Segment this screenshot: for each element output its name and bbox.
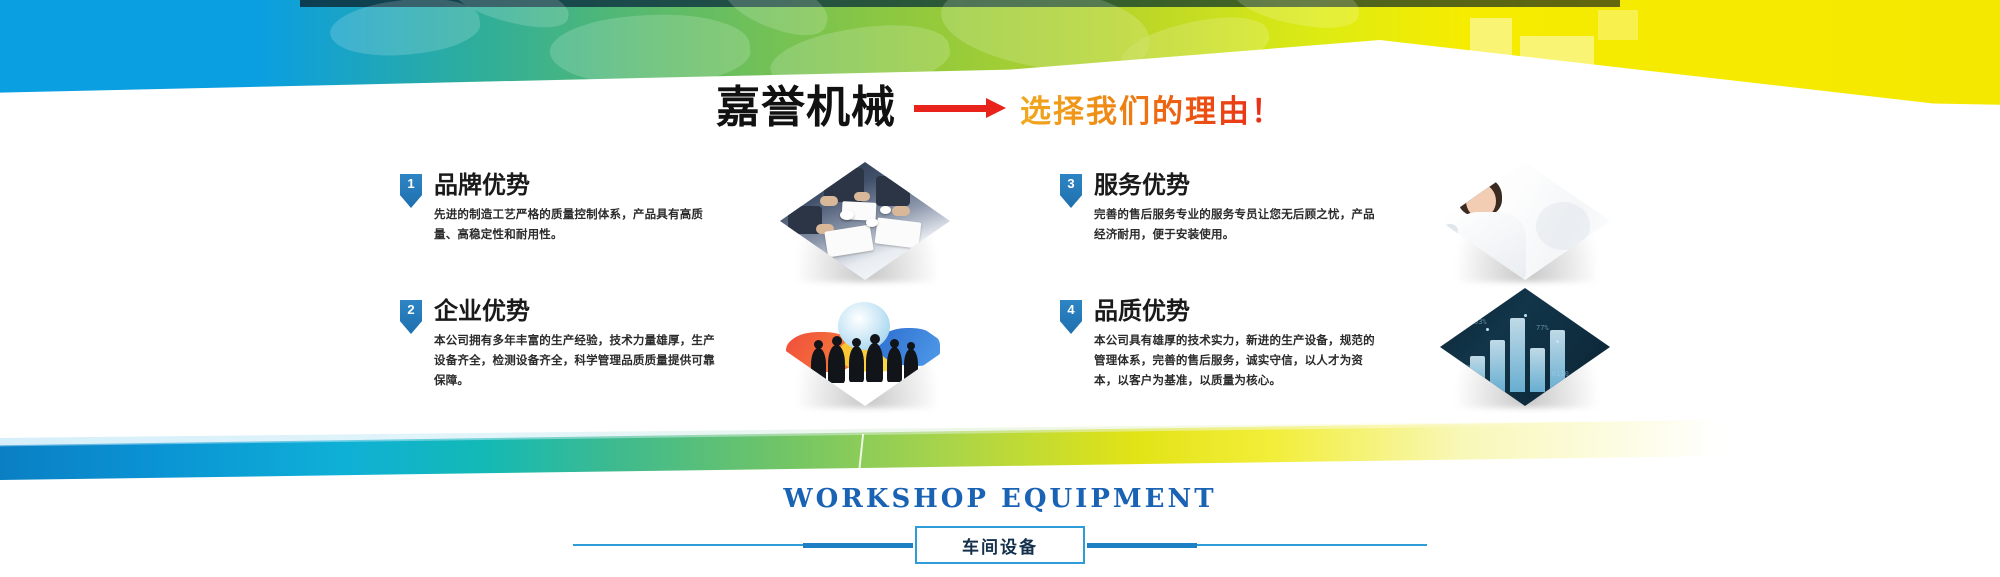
feature-title: 品质优势 [1094, 298, 1394, 324]
section-title-en: WORKSHOP EQUIPMENT [0, 484, 2000, 514]
divider-line-left-thin [573, 544, 803, 546]
brand-title: 嘉誉机械 [716, 86, 896, 130]
service-agent-photo [1440, 162, 1610, 280]
feature-description: 完善的售后服务专业的服务专员让您无后顾之忧，产品经济耐用，便于安装使用。 [1094, 206, 1386, 246]
business-team-photo [780, 288, 950, 406]
right-arrow-icon [914, 98, 1006, 118]
business-meeting-photo [780, 162, 950, 280]
data-chart-photo: 93% 77% 1011 0110 [1440, 288, 1610, 406]
feature-badge-number: 4 [1060, 302, 1082, 317]
feature-badge-number: 1 [400, 176, 422, 191]
divider-line-right-thin [1197, 544, 1427, 546]
section-divider: 车间设备 [0, 524, 2000, 566]
feature-title: 服务优势 [1094, 172, 1394, 198]
feature-item-enterprise: 2 企业优势 本公司拥有多年丰富的生产经验，技术力量雄厚，生产设备齐全，检测设备… [400, 294, 1040, 412]
feature-badge-1: 1 [400, 174, 422, 208]
feature-title: 企业优势 [434, 298, 734, 324]
feature-grid: 1 品牌优势 先进的制造工艺严格的质量控制体系，产品具有高质量、高稳定性和耐用性… [400, 168, 1700, 412]
feature-item-service: 3 服务优势 完善的售后服务专业的服务专员让您无后顾之忧，产品经济耐用，便于安装… [1060, 168, 1700, 286]
bottom-gradient-ribbon [0, 420, 2000, 480]
feature-description: 本公司拥有多年丰富的生产经验，技术力量雄厚，生产设备齐全，检测设备齐全，科学管理… [434, 332, 726, 391]
feature-badge-2: 2 [400, 300, 422, 334]
feature-title: 品牌优势 [434, 172, 734, 198]
header-tagline: 选择我们的理由！ [1020, 86, 1284, 131]
divider-line-right-thick [1087, 543, 1197, 548]
section-title-cn-box: 车间设备 [915, 526, 1085, 564]
feature-item-brand: 1 品牌优势 先进的制造工艺严格的质量控制体系，产品具有高质量、高稳定性和耐用性… [400, 168, 1040, 286]
header-title-row: 嘉誉机械 选择我们的理由！ [0, 78, 2000, 138]
section-title-cn: 车间设备 [962, 533, 1038, 558]
feature-badge-number: 2 [400, 302, 422, 317]
feature-description: 先进的制造工艺严格的质量控制体系，产品具有高质量、高稳定性和耐用性。 [434, 206, 726, 246]
feature-badge-3: 3 [1060, 174, 1082, 208]
feature-description: 本公司具有雄厚的技术实力，新进的生产设备，规范的管理体系，完善的售后服务，诚实守… [1094, 332, 1386, 391]
banner-square-c [1598, 10, 1638, 40]
divider-line-left-thick [803, 543, 913, 548]
feature-item-quality: 4 品质优势 本公司具有雄厚的技术实力，新进的生产设备，规范的管理体系，完善的售… [1060, 294, 1700, 412]
promo-page: 嘉誉机械 选择我们的理由！ 1 品牌优势 先进的制造工艺严格的质量控制体系，产品… [0, 0, 2000, 577]
feature-badge-4: 4 [1060, 300, 1082, 334]
banner-square-a [1470, 18, 1512, 56]
feature-badge-number: 3 [1060, 176, 1082, 191]
